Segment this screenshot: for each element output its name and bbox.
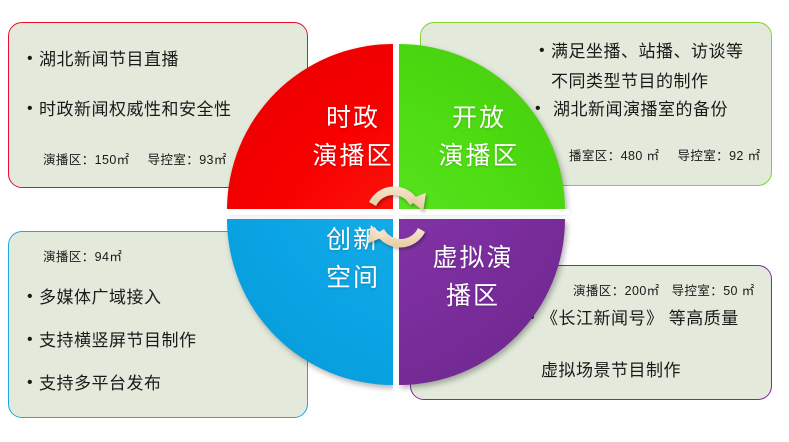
metric-unit: ㎡ (647, 149, 660, 163)
metric-label: 导控室： (148, 153, 200, 167)
metric-label: 演播区： (43, 250, 95, 264)
metric-label: 演播区： (43, 153, 95, 167)
callout-tr-bullet-2-text: 湖北新闻演播室的备份 (547, 99, 757, 120)
metric-label: 导控室： (672, 284, 724, 298)
bullet-dot-icon: • (27, 287, 39, 307)
bullet-dot-icon: • (27, 330, 39, 350)
bullet-dot-icon: • (27, 99, 39, 119)
metric-label: 播室区： (569, 149, 621, 163)
metric-value: 480 (621, 149, 647, 163)
quadrant-bottom-right[interactable] (399, 219, 565, 385)
bullet-dot-icon: • (27, 373, 39, 393)
metric-unit: ㎡ (109, 250, 122, 264)
metric-unit: ㎡ (748, 149, 761, 163)
quadrant-bottom-right-fill (399, 219, 565, 385)
metric-unit: ㎡ (742, 284, 755, 298)
quadrant-top-left-fill (227, 44, 393, 210)
metric-unit: ㎡ (214, 153, 227, 167)
callout-tr-metrics: 播室区：480 ㎡导控室：92 ㎡ (569, 145, 771, 164)
metric-value: 92 (729, 149, 748, 163)
metric-unit: ㎡ (117, 153, 130, 167)
callout-tr-bullet-1-text: 满足坐播、站播、访谈等 (551, 41, 757, 62)
callout-tr-bullet-1-cont: 不同类型节目的制作 (551, 67, 757, 92)
metric-value: 94 (95, 250, 110, 264)
callout-br-bullet-1-text: 《长江新闻号》 等高质量 (541, 308, 759, 329)
quadrant-wheel (227, 44, 565, 385)
quadrant-top-left[interactable] (227, 44, 393, 210)
quadrant-bottom-left[interactable] (227, 219, 393, 385)
callout-br-metrics: 演播区：200㎡导控室：50 ㎡ (573, 280, 771, 299)
quadrant-top-right[interactable] (399, 44, 565, 210)
metric-value: 200 (625, 284, 647, 298)
metric-value: 93 (199, 153, 214, 167)
metric-label: 演播区： (573, 284, 625, 298)
metric-unit: ㎡ (647, 284, 660, 298)
diagram-canvas: • 湖北新闻节目直播 • 时政新闻权威性和安全性 演播区：150㎡导控室：93㎡… (0, 0, 789, 442)
callout-br-bullet-1-cont: 虚拟场景节目制作 (541, 356, 759, 381)
callout-tr-bullet-2: • 湖北新闻演播室的备份 (535, 99, 757, 120)
bullet-dot-icon: • (27, 49, 39, 69)
metric-label: 导控室： (677, 149, 729, 163)
callout-tr-bullet-1: • 满足坐播、站播、访谈等 (539, 41, 757, 62)
metric-value: 150 (95, 153, 117, 167)
metric-value: 50 (723, 284, 742, 298)
quadrant-bottom-left-fill (227, 219, 393, 385)
quadrant-top-right-fill (399, 44, 565, 210)
